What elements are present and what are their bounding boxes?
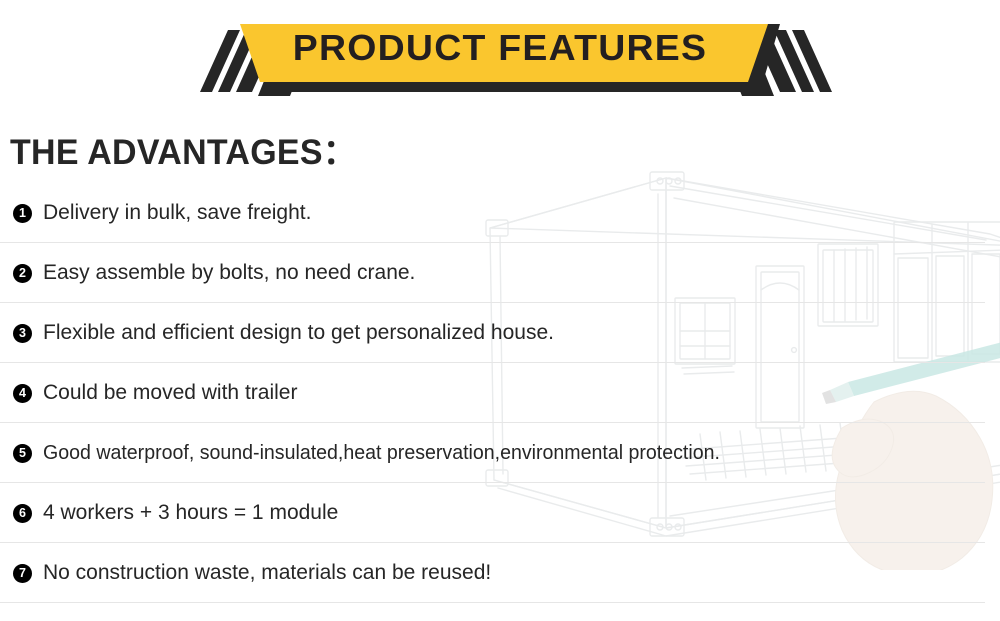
list-item-text: Easy assemble by bolts, no need crane. <box>43 261 415 285</box>
list-item-text: Good waterproof, sound-insulated,heat pr… <box>43 441 720 465</box>
list-item: 1 Delivery in bulk, save freight. <box>0 183 1000 243</box>
list-item: 4 Could be moved with trailer <box>0 363 1000 423</box>
list-item-text: Flexible and efficient design to get per… <box>43 321 554 345</box>
banner-title: PRODUCT FEATURES <box>0 26 1000 70</box>
page-title: THE ADVANTAGES： <box>10 124 357 175</box>
list-item-number-badge: 2 <box>13 264 32 283</box>
list-item: 2 Easy assemble by bolts, no need crane. <box>0 243 1000 303</box>
list-item-number-badge: 3 <box>13 324 32 343</box>
list-item-text: No construction waste, materials can be … <box>43 561 491 585</box>
list-item-text: Delivery in bulk, save freight. <box>43 201 311 225</box>
list-item: 7 No construction waste, materials can b… <box>0 543 1000 603</box>
product-features-banner: PRODUCT FEATURES <box>0 0 1000 100</box>
list-item-text: 4 workers + 3 hours = 1 module <box>43 501 338 525</box>
list-item: 5 Good waterproof, sound-insulated,heat … <box>0 423 1000 483</box>
list-item-number-badge: 1 <box>13 204 32 223</box>
product-features-page: PRODUCT FEATURES THE ADVANTAGES： 1 Deliv… <box>0 0 1000 621</box>
list-item: 3 Flexible and efficient design to get p… <box>0 303 1000 363</box>
list-item-number-badge: 7 <box>13 564 32 583</box>
list-item: 6 4 workers + 3 hours = 1 module <box>0 483 1000 543</box>
list-item-number-badge: 5 <box>13 444 32 463</box>
advantages-list: 1 Delivery in bulk, save freight. 2 Easy… <box>0 183 1000 603</box>
list-item-number-badge: 6 <box>13 504 32 523</box>
list-item-text: Could be moved with trailer <box>43 381 297 405</box>
list-item-number-badge: 4 <box>13 384 32 403</box>
